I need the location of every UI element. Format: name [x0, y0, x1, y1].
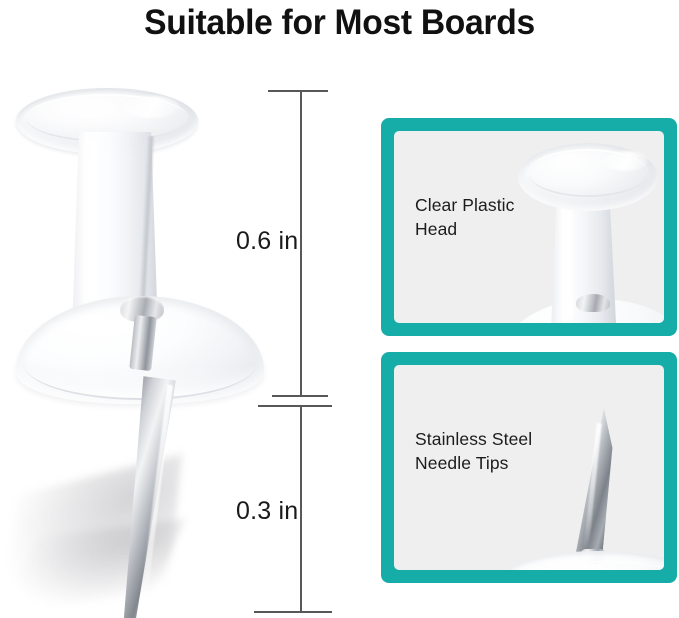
- dimension-tick-top: [268, 90, 328, 92]
- card1-pushpin-stem-highlight: [564, 197, 576, 319]
- dimension-label-needle-length: 0.3 in: [236, 497, 298, 526]
- dimension-tick-bottom: [254, 611, 332, 613]
- feature-label-clear-plastic-head: Clear Plastic Head: [415, 193, 515, 241]
- feature-card-1-photo: Clear Plastic Head: [394, 131, 664, 323]
- card1-pushpin-head-highlight: [604, 151, 648, 171]
- dimension-label-head-height: 0.6 in: [236, 227, 298, 256]
- hero-product-image: [0, 78, 300, 618]
- dimension-line-lower: [300, 405, 302, 612]
- infographic-root: Suitable for Most Boards 0.6 in 0.3 in: [0, 0, 679, 618]
- dimension-line-upper: [300, 90, 302, 396]
- page-title: Suitable for Most Boards: [14, 2, 666, 44]
- card1-pushpin-collar: [576, 294, 610, 312]
- feature-card-clear-plastic-head[interactable]: Clear Plastic Head: [381, 118, 677, 336]
- dimension-tick-middle-lower: [258, 405, 332, 407]
- dimension-tick-middle-upper: [272, 395, 328, 397]
- feature-card-stainless-steel-needle-tips[interactable]: Stainless Steel Needle Tips: [381, 352, 677, 583]
- feature-label-stainless-steel-needle-tips: Stainless Steel Needle Tips: [415, 427, 532, 475]
- feature-card-2-photo: Stainless Steel Needle Tips: [394, 365, 664, 570]
- pushpin-head-highlight: [122, 96, 180, 118]
